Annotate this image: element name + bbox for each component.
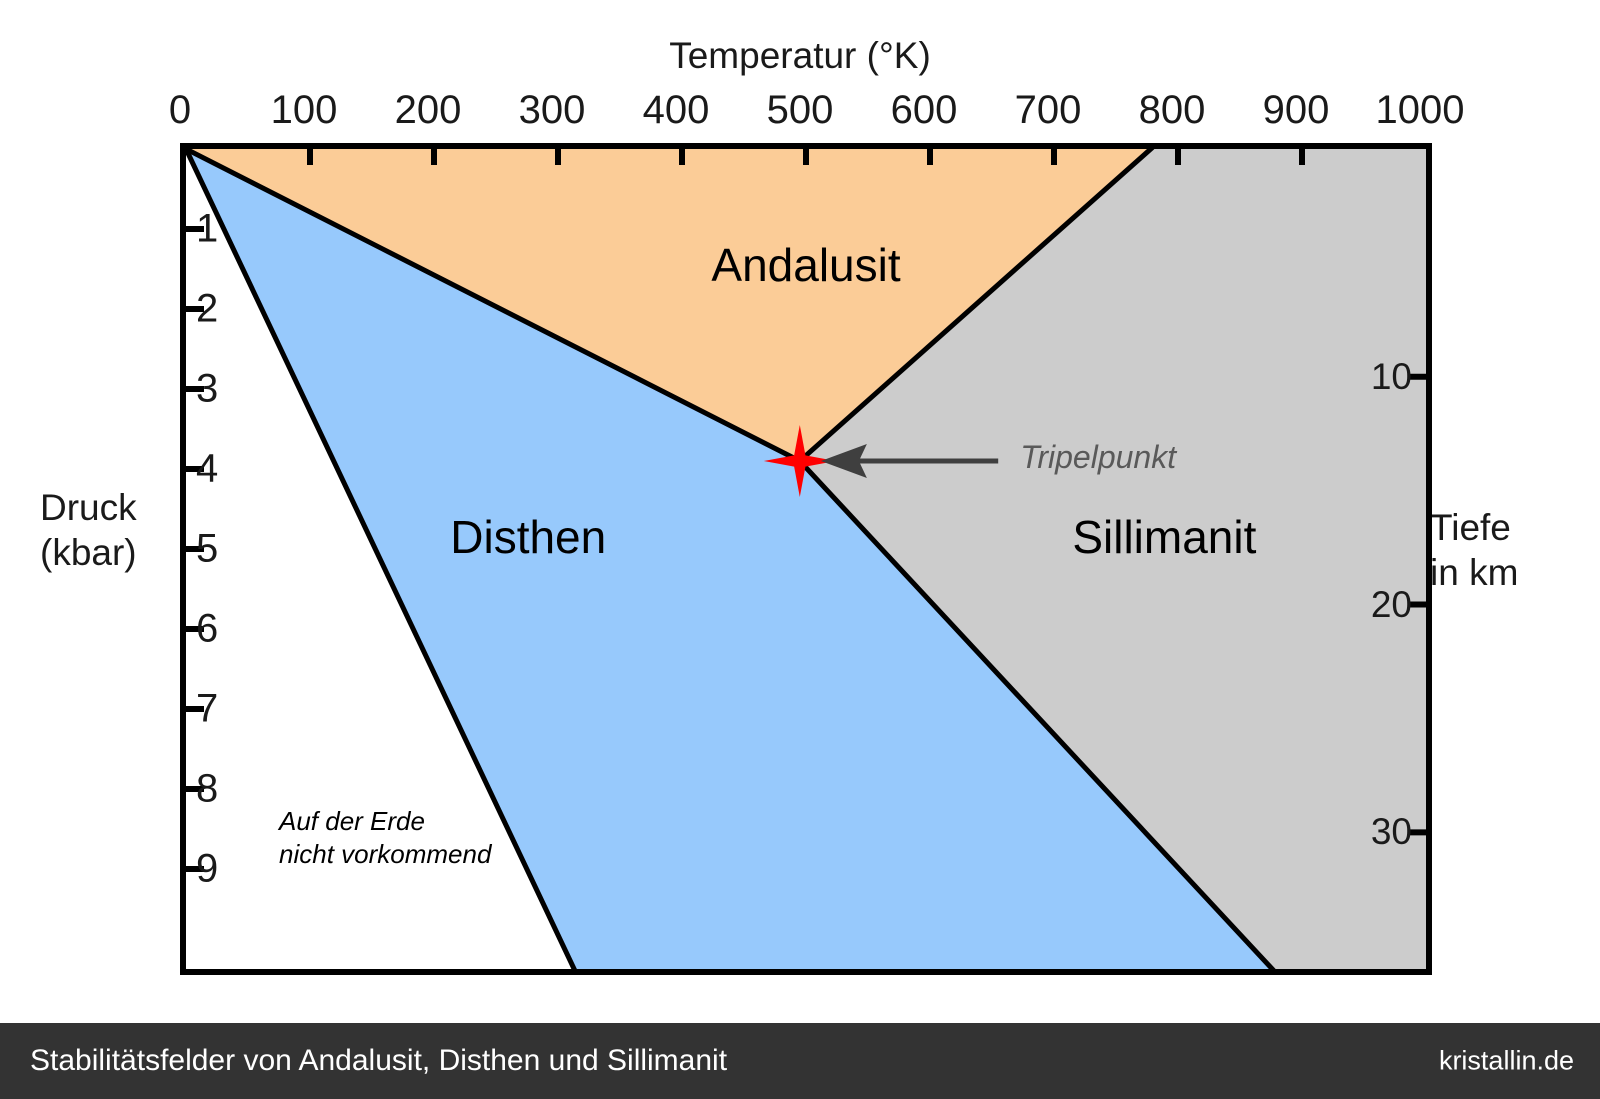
footer-credit: kristallin.de [1439,1046,1574,1077]
y-tick-label-left-9: 9 [196,847,218,892]
x-tick-label-200: 200 [395,88,462,133]
y-axis-left-title: Druck (kbar) [40,485,190,575]
y-tick-label-left-6: 6 [196,607,218,652]
y-tick-label-right-20: 20 [1371,584,1412,626]
not-on-earth-note: Auf der Erde nicht vorkommend [279,805,491,870]
y-tick-label-left-5: 5 [196,527,218,572]
x-tick-label-400: 400 [643,88,710,133]
x-tick-label-0: 0 [169,88,191,133]
x-tick-label-100: 100 [271,88,338,133]
y-tick-label-right-10: 10 [1371,356,1412,398]
triple-point-label: Tripelpunkt [1020,439,1176,476]
x-tick-label-700: 700 [1015,88,1082,133]
region-label-sillimanit: Sillimanit [1072,510,1256,564]
region-label-andalusit: Andalusit [711,238,900,292]
x-tick-label-800: 800 [1139,88,1206,133]
x-axis-title: Temperatur (°K) [0,33,1600,78]
y-tick-label-left-2: 2 [196,287,218,332]
x-tick-label-600: 600 [891,88,958,133]
y-tick-label-right-30: 30 [1371,811,1412,853]
x-tick-label-1000: 1000 [1376,88,1465,133]
x-tick-label-900: 900 [1263,88,1330,133]
x-tick-label-500: 500 [767,88,834,133]
y-tick-label-left-8: 8 [196,767,218,812]
y-tick-label-left-3: 3 [196,367,218,412]
region-label-disthen: Disthen [450,510,606,564]
footer-bar: Stabilitätsfelder von Andalusit, Disthen… [0,1023,1600,1099]
x-tick-label-300: 300 [519,88,586,133]
y-tick-label-left-1: 1 [196,207,218,252]
footer-caption: Stabilitätsfelder von Andalusit, Disthen… [30,1044,727,1078]
phase-diagram-figure: Temperatur (°K) Druck (kbar) Tiefe in km… [0,0,1600,1020]
y-tick-label-left-7: 7 [196,687,218,732]
y-axis-right-title: Tiefe in km [1430,505,1590,595]
y-tick-label-left-4: 4 [196,447,218,492]
